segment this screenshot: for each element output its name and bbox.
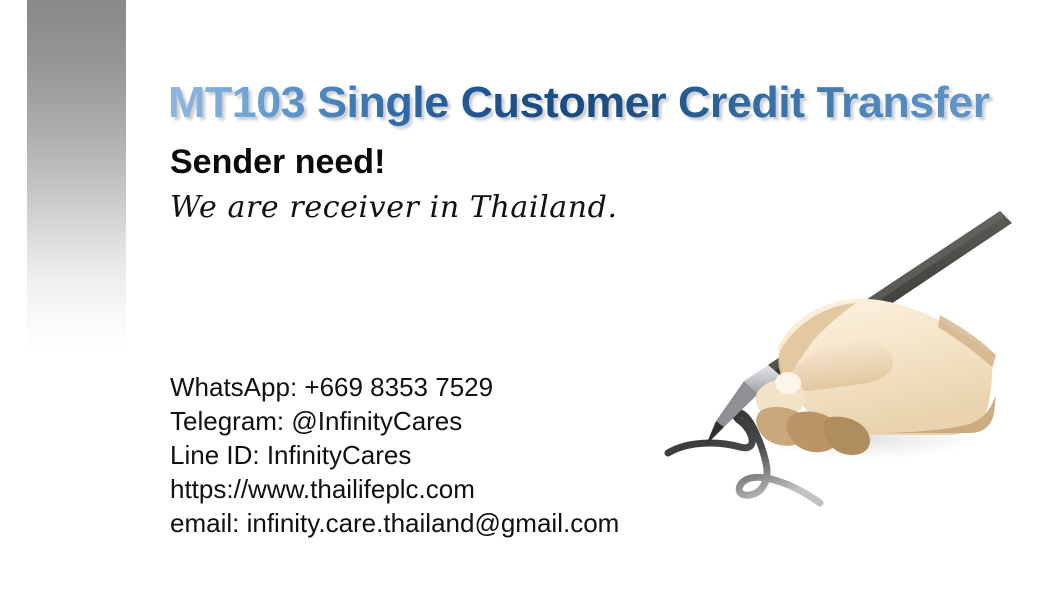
- page-title: MT103 Single Customer Credit Transfer MT…: [168, 78, 1028, 130]
- hand-writing-illustration: [640, 195, 1040, 525]
- left-gradient-bar: [27, 0, 126, 352]
- page-title-text: MT103 Single Customer Credit Transfer: [168, 78, 1045, 128]
- script-tagline: We are receiver in Thailand.: [170, 190, 618, 225]
- slide-canvas: MT103 Single Customer Credit Transfer MT…: [0, 0, 1063, 600]
- subheading: Sender need!: [170, 143, 385, 182]
- thumb-tip-highlight: [775, 372, 801, 394]
